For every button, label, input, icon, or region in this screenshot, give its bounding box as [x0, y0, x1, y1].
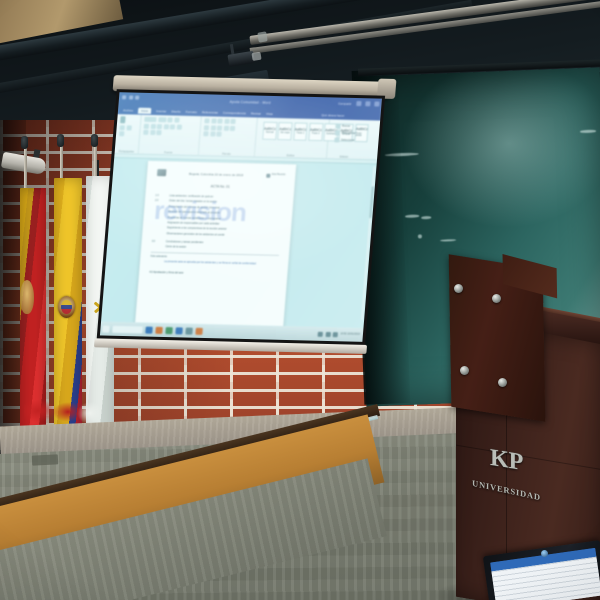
screen-border: Ayuda Comunidad - Word Compartir Archivo… [97, 89, 385, 345]
flag-finial [57, 134, 64, 147]
glass-reflection-point [418, 234, 422, 238]
auditorium-scene: Ayuda Comunidad - Word Compartir Archivo… [0, 0, 600, 600]
presenter-laptop[interactable] [486, 548, 600, 600]
lectern-bolt [460, 366, 469, 375]
glass-reflection-dot [421, 216, 431, 219]
screen-surface: Ayuda Comunidad - Word Compartir Archivo… [100, 92, 382, 342]
lectern-bolt [454, 284, 463, 293]
lectern-bolt [492, 294, 501, 303]
lectern-side-plate [449, 254, 546, 421]
glass-reflection-strip [440, 239, 456, 242]
flag-emblem [20, 280, 34, 314]
ceiling-speaker [257, 31, 267, 42]
flag-finial [21, 136, 28, 149]
glass-reflection-strip [580, 130, 596, 133]
flag-drape-pooling [23, 397, 102, 436]
projector-lens [251, 52, 261, 61]
projection-blur [100, 92, 382, 342]
projection-screen: Ayuda Comunidad - Word Compartir Archivo… [95, 89, 385, 367]
flag-coat-of-arms [58, 296, 75, 318]
glass-reflection-dot [405, 214, 419, 217]
lectern-bolt [498, 378, 507, 387]
flag-finial [91, 134, 98, 147]
floor-access-plate [32, 454, 58, 465]
